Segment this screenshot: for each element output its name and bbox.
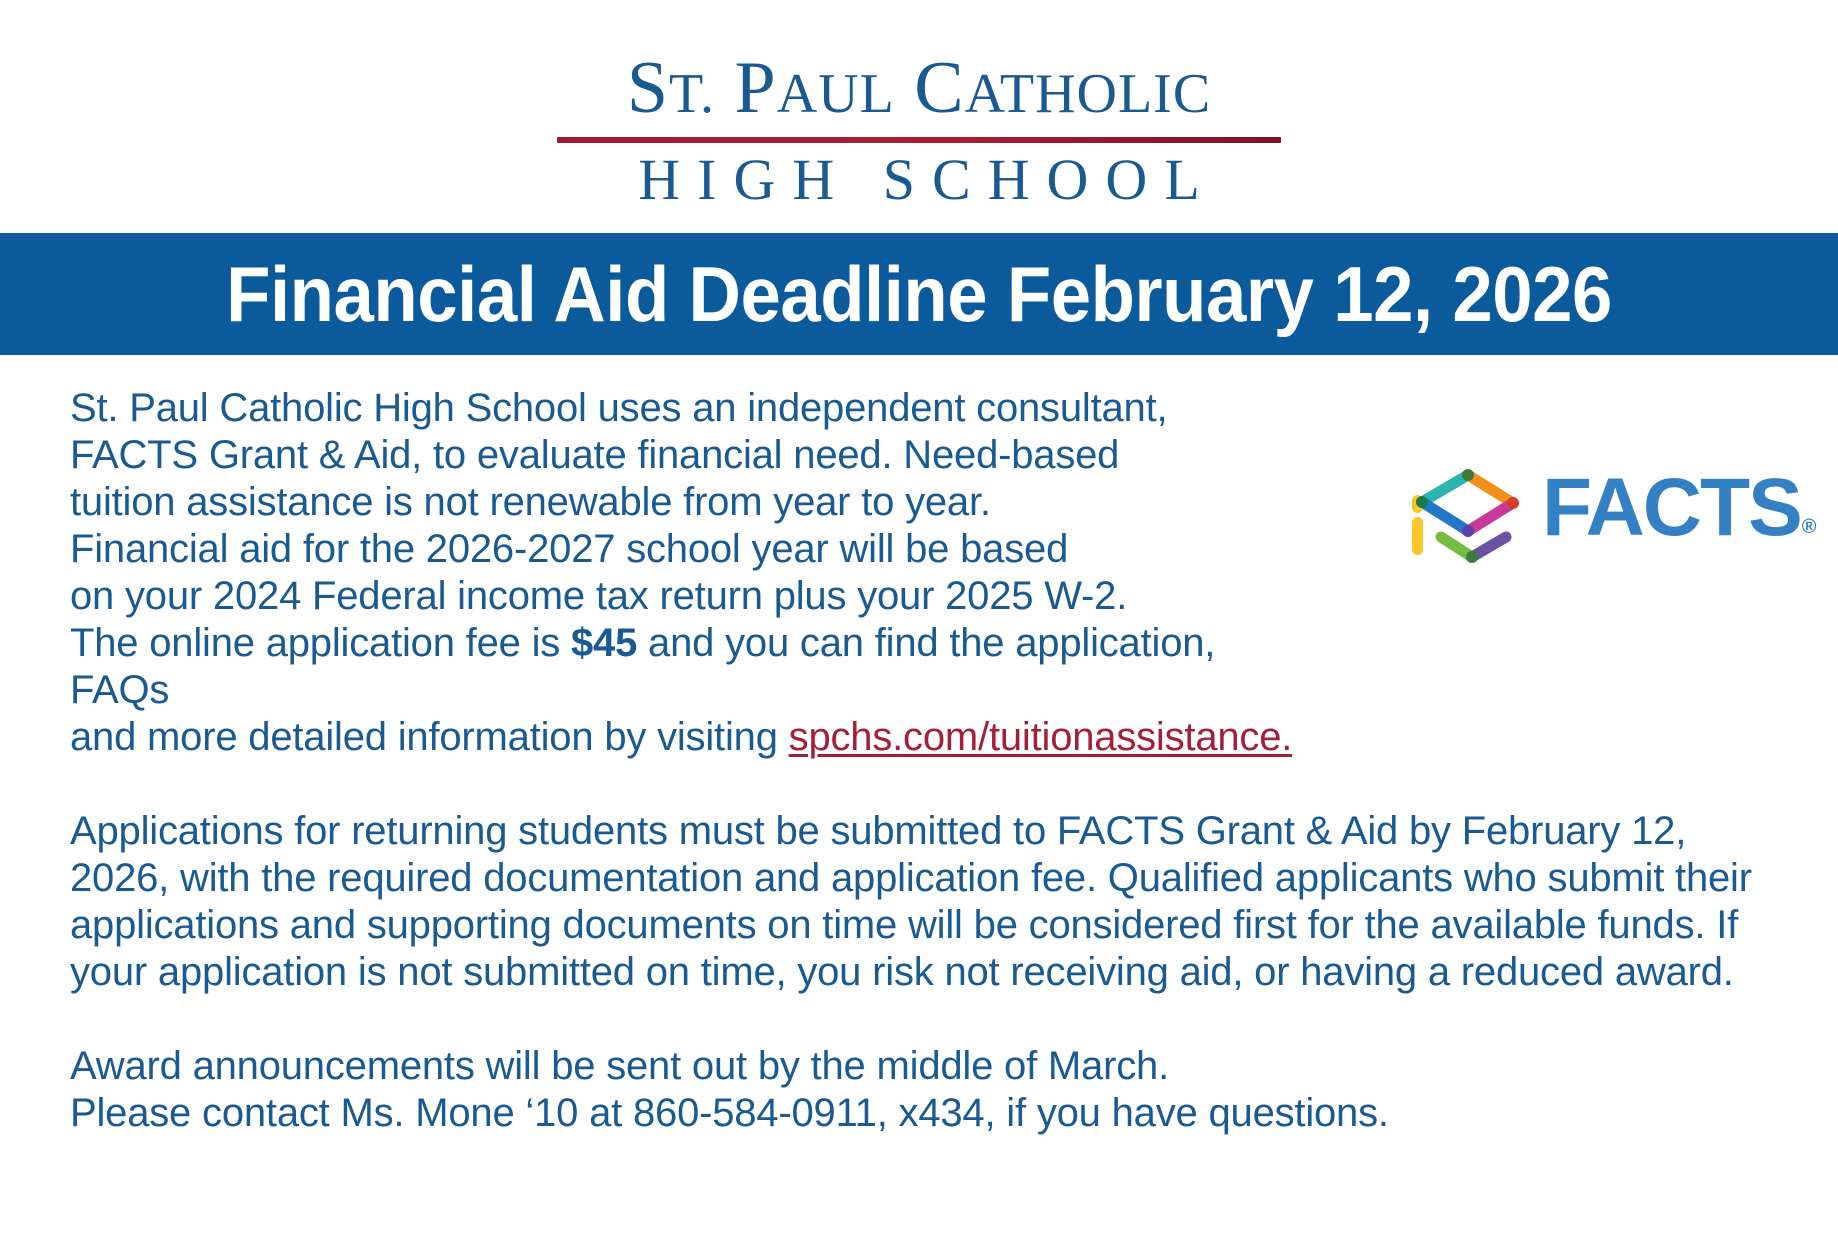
logo-letters-atholic: ATHOLIC — [965, 63, 1212, 125]
logo-divider-rule — [557, 137, 1281, 143]
p1-line-3: tuition assistance is not renewable from… — [70, 479, 1320, 526]
tuition-assistance-link[interactable]: spchs.com/tuitionassistance. — [789, 715, 1293, 759]
logo-letters-aul: AUL — [777, 63, 895, 125]
registered-mark-icon: ® — [1802, 516, 1815, 538]
p3-line-2: Please contact Ms. Mone ‘10 at 860-584-0… — [70, 1090, 1778, 1137]
paragraph-2: Applications for returning students must… — [70, 808, 1778, 996]
deadline-banner: Financial Aid Deadline February 12, 2026 — [0, 233, 1838, 355]
logo-letter-s: S — [627, 47, 669, 129]
p1-line-2: FACTS Grant & Aid, to evaluate financial… — [70, 432, 1320, 479]
application-fee-amount: $45 — [571, 621, 637, 665]
school-name-line1: ST. PAUL CATHOLIC — [0, 52, 1838, 125]
paragraph-spacer-2 — [70, 996, 1778, 1043]
facts-logo: FACTS® — [1400, 455, 1800, 570]
p1-line-7: and more detailed information by visitin… — [70, 714, 1320, 761]
p1-line-1: St. Paul Catholic High School uses an in… — [70, 385, 1320, 432]
facts-wordmark: FACTS® — [1542, 467, 1814, 549]
p1-line-6-pre: The online application fee is — [70, 621, 571, 665]
p1-line-6: The online application fee is $45 and yo… — [70, 620, 1320, 714]
p3-line-1: Award announcements will be sent out by … — [70, 1043, 1778, 1090]
p1-line-4: Financial aid for the 2026-2027 school y… — [70, 526, 1320, 573]
logo-letter-c: C — [914, 47, 964, 129]
banner-title: Financial Aid Deadline February 12, 2026 — [226, 255, 1612, 333]
paragraph-spacer-1 — [70, 761, 1778, 808]
p1-line-7-pre: and more detailed information by visitin… — [70, 715, 789, 759]
paragraph-3: Award announcements will be sent out by … — [70, 1043, 1778, 1137]
p1-line-5: on your 2024 Federal income tax return p… — [70, 573, 1320, 620]
facts-wordmark-text: FACTS — [1542, 462, 1801, 553]
logo-letters-t: T. — [669, 63, 715, 125]
school-logo: ST. PAUL CATHOLIC HIGH SCHOOL — [0, 0, 1838, 209]
flyer-body: FACTS® St. Paul Catholic High School use… — [0, 355, 1838, 1137]
graduation-cap-diamond-icon — [1400, 457, 1530, 567]
school-name-line2: HIGH SCHOOL — [0, 151, 1838, 209]
logo-letter-p: P — [735, 47, 777, 129]
paragraph-1: St. Paul Catholic High School uses an in… — [70, 385, 1320, 761]
